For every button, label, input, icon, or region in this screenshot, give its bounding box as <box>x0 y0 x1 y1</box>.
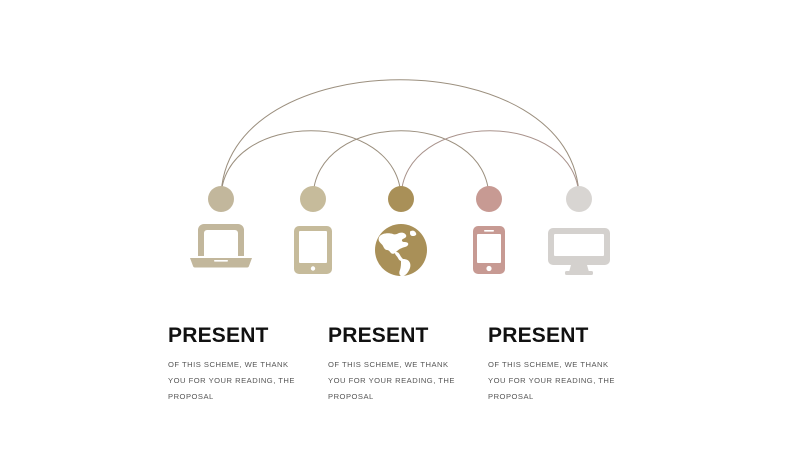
connection-arcs <box>221 80 579 199</box>
text-column-1: PRESENT OF THIS SCHEME, WE THANK YOU FOR… <box>168 325 298 405</box>
column-body: OF THIS SCHEME, WE THANK YOU FOR YOUR RE… <box>168 357 308 405</box>
phone-icon[interactable] <box>473 226 505 274</box>
globe-node[interactable] <box>388 186 414 212</box>
globe-icon[interactable] <box>375 224 427 276</box>
monitor-icon[interactable] <box>548 228 610 275</box>
device-network-diagram <box>0 0 800 300</box>
monitor-node[interactable] <box>566 186 592 212</box>
column-body: OF THIS SCHEME, WE THANK YOU FOR YOUR RE… <box>328 357 468 405</box>
tablet-node[interactable] <box>300 186 326 212</box>
laptop-icon[interactable] <box>190 224 252 268</box>
column-body: OF THIS SCHEME, WE THANK YOU FOR YOUR RE… <box>488 357 628 405</box>
connector-nodes <box>208 186 592 212</box>
laptop-node[interactable] <box>208 186 234 212</box>
arc-laptop-monitor <box>221 80 579 199</box>
network-svg <box>0 0 800 300</box>
text-columns: PRESENT OF THIS SCHEME, WE THANK YOU FOR… <box>168 325 638 425</box>
text-column-3: PRESENT OF THIS SCHEME, WE THANK YOU FOR… <box>488 325 618 405</box>
column-title: PRESENT <box>168 325 298 347</box>
column-title: PRESENT <box>488 325 618 347</box>
tablet-icon[interactable] <box>294 226 332 274</box>
slide-canvas: PRESENT OF THIS SCHEME, WE THANK YOU FOR… <box>0 0 800 450</box>
phone-node[interactable] <box>476 186 502 212</box>
column-title: PRESENT <box>328 325 458 347</box>
text-column-2: PRESENT OF THIS SCHEME, WE THANK YOU FOR… <box>328 325 458 405</box>
